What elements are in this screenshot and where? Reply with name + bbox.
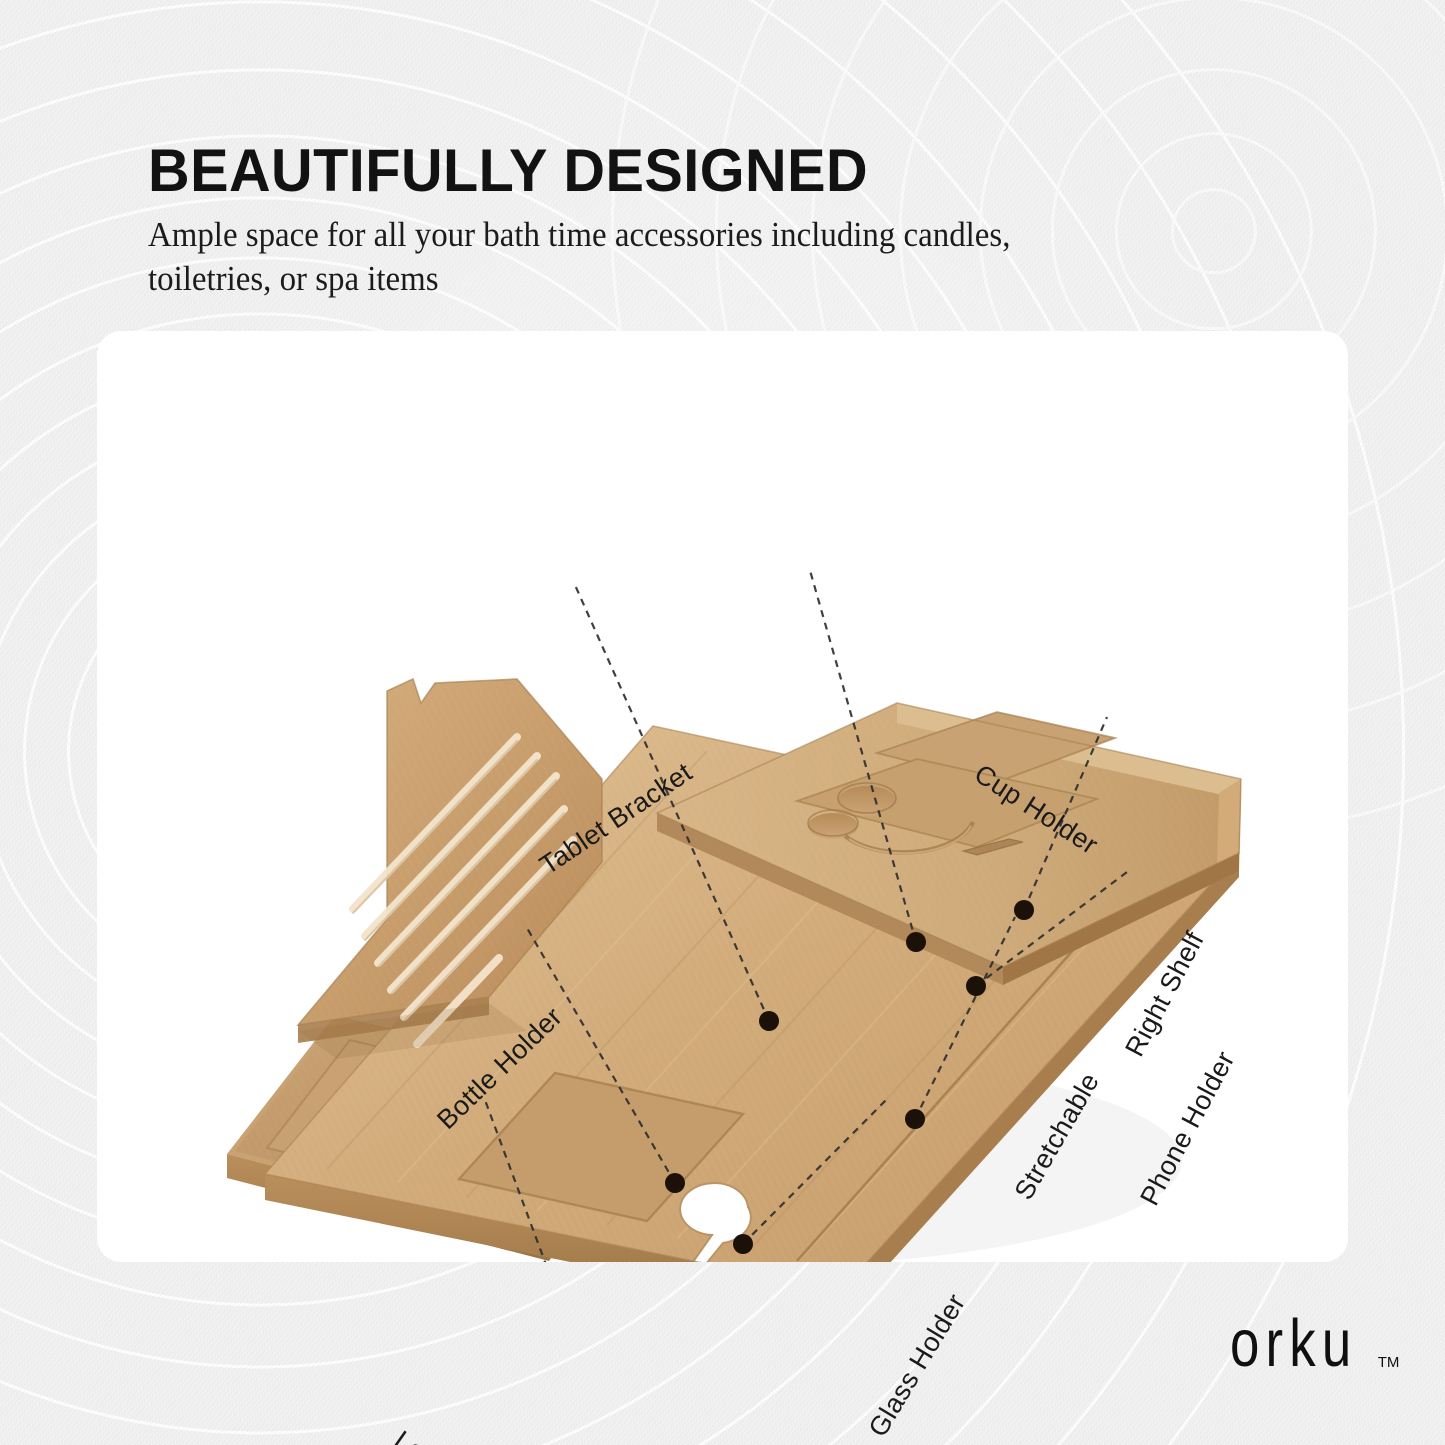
phone-holder-dot <box>966 976 986 996</box>
product-illustration <box>97 331 1348 1262</box>
header-block: BEAUTIFULLY DESIGNED Ample space for all… <box>148 140 1208 301</box>
product-image-card: Tablet Bracket Cup Holder Right Shelf Ph… <box>97 331 1348 1262</box>
page-subtitle: Ample space for all your bath time acces… <box>148 213 1107 301</box>
product-diagram <box>97 331 1348 1262</box>
right-shelf-dot <box>1014 900 1034 920</box>
stretchable-dot <box>905 1109 925 1129</box>
infographic-page: BEAUTIFULLY DESIGNED Ample space for all… <box>0 0 1445 1445</box>
page-title: BEAUTIFULLY DESIGNED <box>148 140 1166 201</box>
brand-name: orku <box>1230 1311 1357 1375</box>
cup-holder-dot <box>906 932 926 952</box>
tablet-bracket-dot <box>759 1011 779 1031</box>
brand-logo: orku TM <box>1230 1318 1399 1375</box>
trademark-symbol: TM <box>1378 1354 1400 1371</box>
glass-holder-dot <box>733 1234 753 1254</box>
bottle-holder-dot <box>665 1173 685 1193</box>
